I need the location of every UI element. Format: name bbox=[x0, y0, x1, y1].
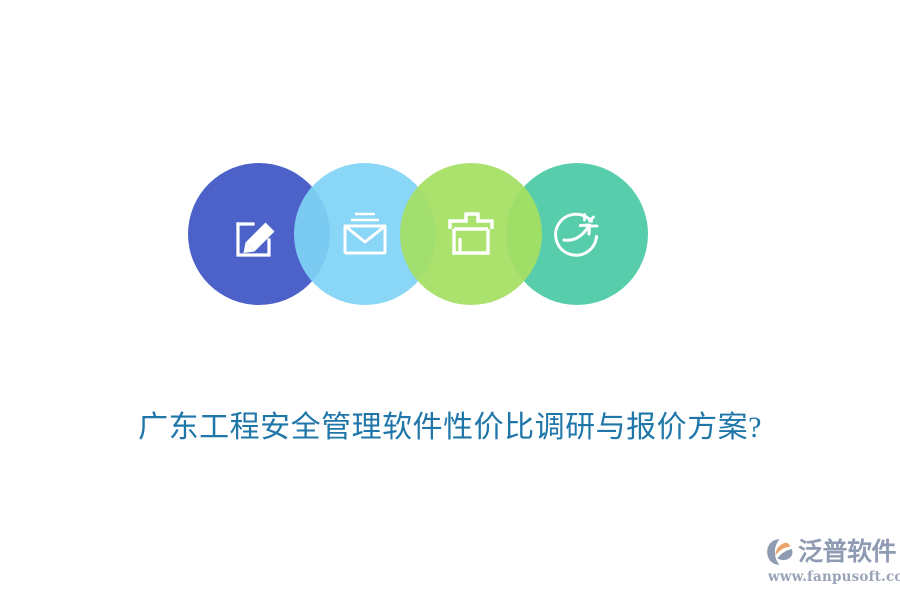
four-circle-icon-band bbox=[188, 163, 648, 305]
logo-row: 泛普软件 bbox=[766, 536, 892, 568]
page-root: 广东工程安全管理软件性价比调研与报价方案? 泛普软件 www.fanpusoft… bbox=[0, 0, 900, 600]
circle-building-disc bbox=[400, 163, 542, 305]
page-title: 广东工程安全管理软件性价比调研与报价方案? bbox=[0, 406, 900, 450]
fanpu-software-logo[interactable]: 泛普软件 www.fanpusoft.com bbox=[766, 536, 892, 588]
logo-url-text: www.fanpusoft.com bbox=[768, 569, 892, 585]
circle-building[interactable] bbox=[400, 163, 542, 305]
logo-brand-text: 泛普软件 bbox=[798, 537, 896, 567]
fanpu-logo-mark-icon bbox=[766, 537, 796, 567]
